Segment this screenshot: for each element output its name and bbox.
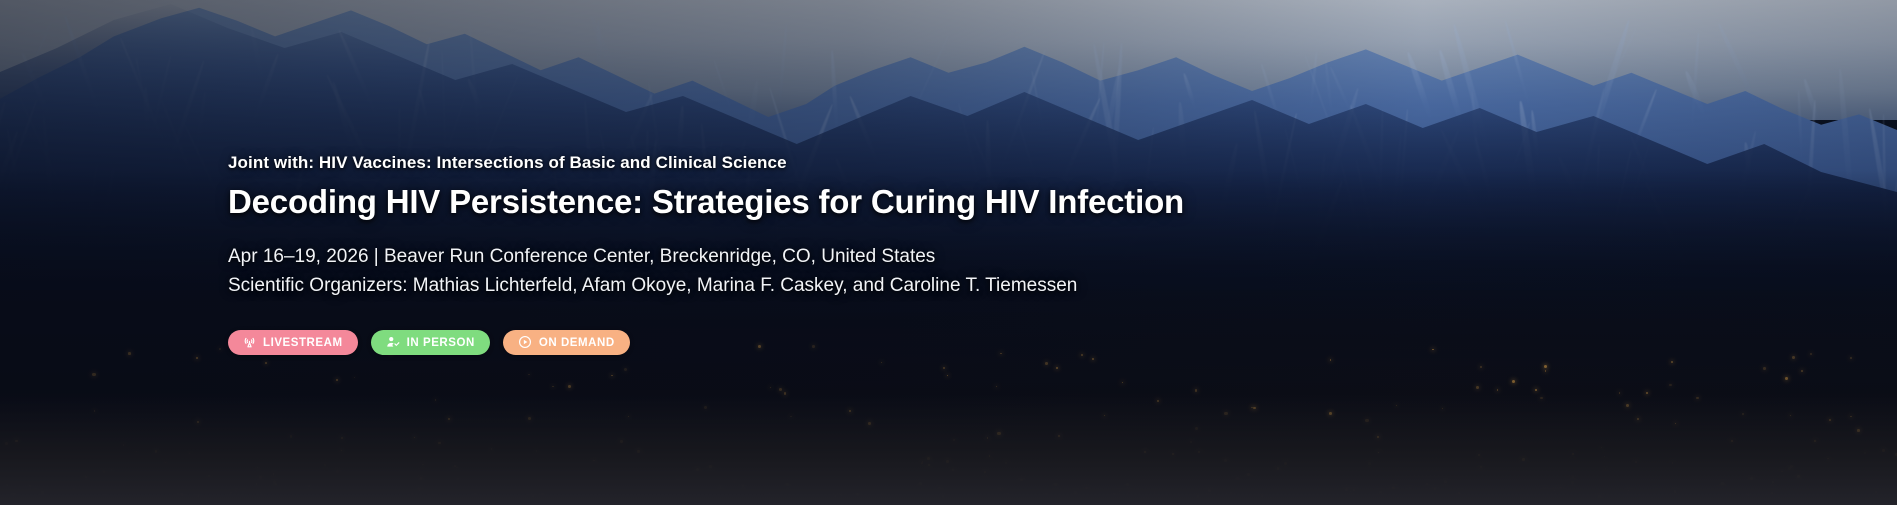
badge-on-demand-label: ON DEMAND <box>539 337 615 349</box>
person-check-icon <box>386 335 400 349</box>
joint-with-subtitle: Joint with: HIV Vaccines: Intersections … <box>228 152 1184 174</box>
date-and-venue: Apr 16–19, 2026 | Beaver Run Conference … <box>228 243 1184 272</box>
badge-in-person[interactable]: IN PERSON <box>371 330 490 355</box>
conference-hero-banner: Joint with: HIV Vaccines: Intersections … <box>0 0 1897 505</box>
attendance-format-badges: LIVESTREAM IN PERSON <box>228 330 1184 355</box>
badge-on-demand[interactable]: ON DEMAND <box>503 330 630 355</box>
play-circle-icon <box>518 335 532 349</box>
hero-content: Joint with: HIV Vaccines: Intersections … <box>228 152 1184 355</box>
bottom-fade-overlay <box>0 395 1897 505</box>
event-meta: Apr 16–19, 2026 | Beaver Run Conference … <box>228 243 1184 301</box>
scientific-organizers: Scientific Organizers: Mathias Lichterfe… <box>228 272 1184 301</box>
badge-in-person-label: IN PERSON <box>407 337 475 349</box>
badge-livestream-label: LIVESTREAM <box>263 337 343 349</box>
broadcast-icon <box>243 336 256 349</box>
page-title: Decoding HIV Persistence: Strategies for… <box>228 183 1184 222</box>
badge-livestream[interactable]: LIVESTREAM <box>228 330 358 355</box>
